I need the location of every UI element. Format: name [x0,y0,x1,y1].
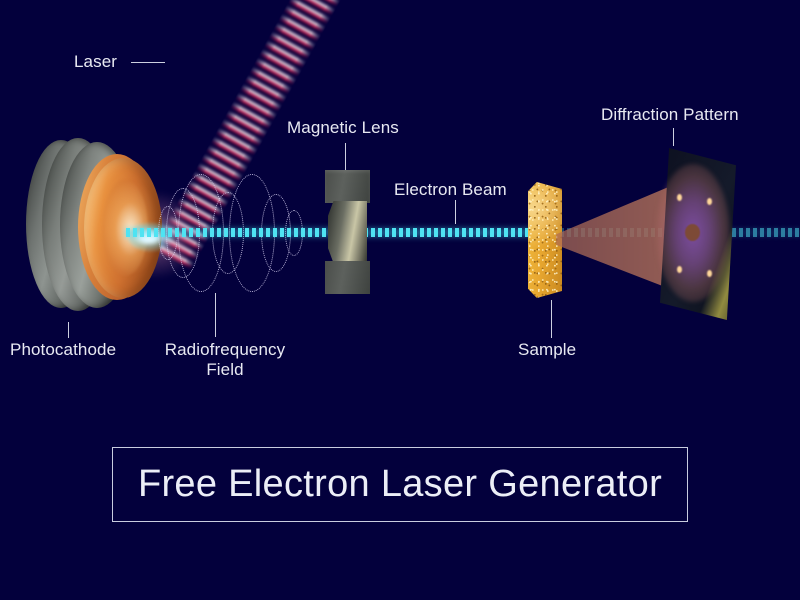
label-radiofrequency-line1: Radiofrequency [165,340,285,359]
label-magnetic-lens: Magnetic Lens [287,118,399,138]
diffraction-screen-component [660,148,736,320]
label-laser: Laser [74,52,117,72]
diffraction-satellite-spot [677,266,682,273]
page-title: Free Electron Laser Generator [138,463,662,506]
leader-line-magnetic-lens [345,143,346,170]
diffraction-satellite-spot [707,270,712,277]
label-sample: Sample [518,340,576,360]
label-radiofrequency-line2: Field [206,360,243,379]
diffraction-satellite-spot [677,194,682,201]
diagram-canvas: Laser Magnetic Lens Diffraction Pattern … [0,0,800,600]
leader-line-diffraction-pattern [673,128,674,146]
magnetic-lens-gap [328,201,367,263]
label-diffraction-pattern: Diffraction Pattern [601,105,739,125]
title-banner: Free Electron Laser Generator [112,447,688,522]
diffraction-screen-edge [660,148,736,320]
leader-line-laser [131,62,165,63]
label-radiofrequency-field: Radiofrequency Field [160,340,290,379]
leader-line-sample [551,300,552,338]
leader-line-electron-beam [455,200,456,224]
leader-line-photocathode [68,322,69,338]
label-electron-beam: Electron Beam [394,180,507,200]
leader-line-radiofrequency [215,293,216,337]
magnetic-lens-pole-top [325,170,370,203]
magnetic-lens-pole-bottom [325,261,370,294]
photocathode-component [22,136,172,316]
magnetic-lens-component [325,170,370,294]
diffraction-satellite-spot [707,198,712,205]
label-photocathode: Photocathode [10,340,116,360]
